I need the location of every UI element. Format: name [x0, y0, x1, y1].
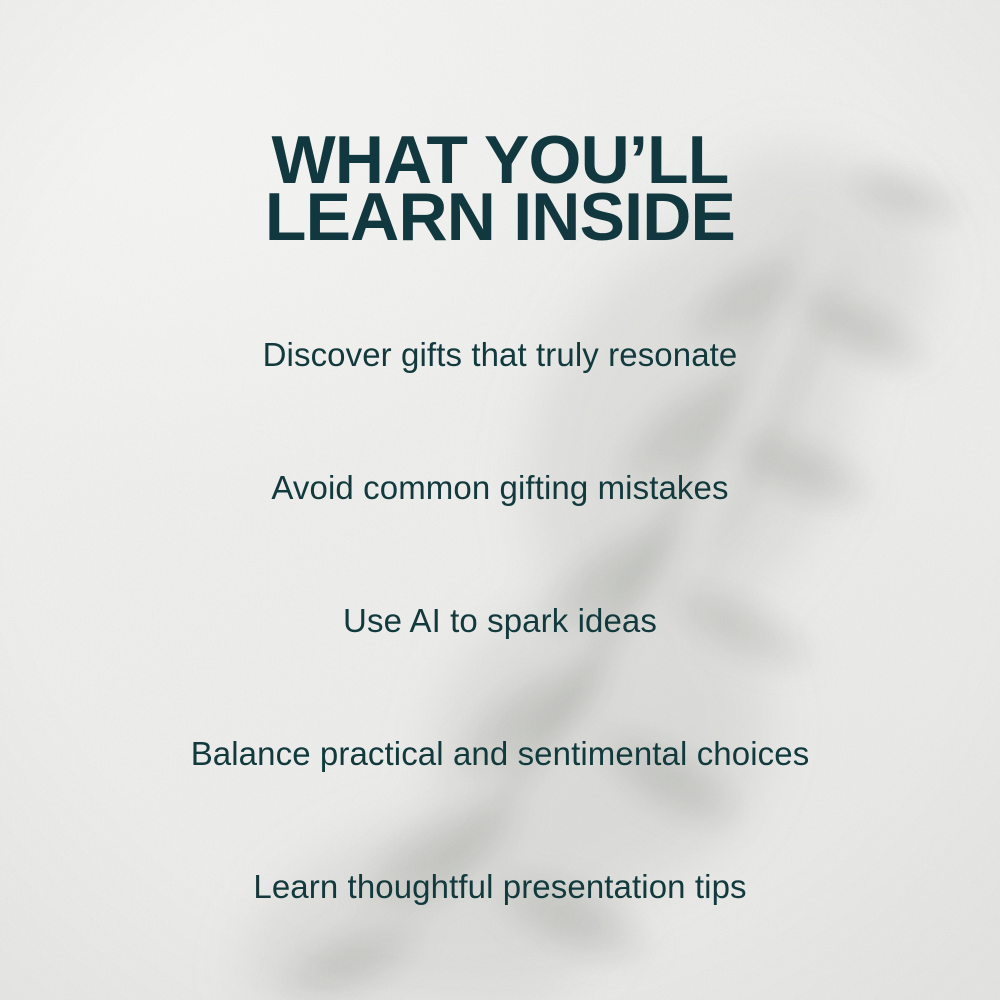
list-item-label: Balance practical and sentimental choice…	[191, 735, 810, 773]
list-item: Avoid common gifting mistakes	[0, 421, 1000, 554]
benefits-list: Discover gifts that truly resonate Avoid…	[0, 288, 1000, 953]
page-title: WHAT YOU’LL LEARN INSIDE	[0, 132, 1000, 246]
list-item: Balance practical and sentimental choice…	[0, 687, 1000, 820]
list-item-label: Learn thoughtful presentation tips	[253, 868, 746, 906]
list-item: Learn thoughtful presentation tips	[0, 820, 1000, 953]
poster-canvas: WHAT YOU’LL LEARN INSIDE Discover gifts …	[0, 0, 1000, 1000]
list-item: Discover gifts that truly resonate	[0, 288, 1000, 421]
poster-content: WHAT YOU’LL LEARN INSIDE Discover gifts …	[0, 0, 1000, 1000]
list-item: Use AI to spark ideas	[0, 554, 1000, 687]
list-item-label: Use AI to spark ideas	[343, 602, 657, 640]
list-item-label: Avoid common gifting mistakes	[271, 469, 728, 507]
list-item-label: Discover gifts that truly resonate	[263, 336, 738, 374]
